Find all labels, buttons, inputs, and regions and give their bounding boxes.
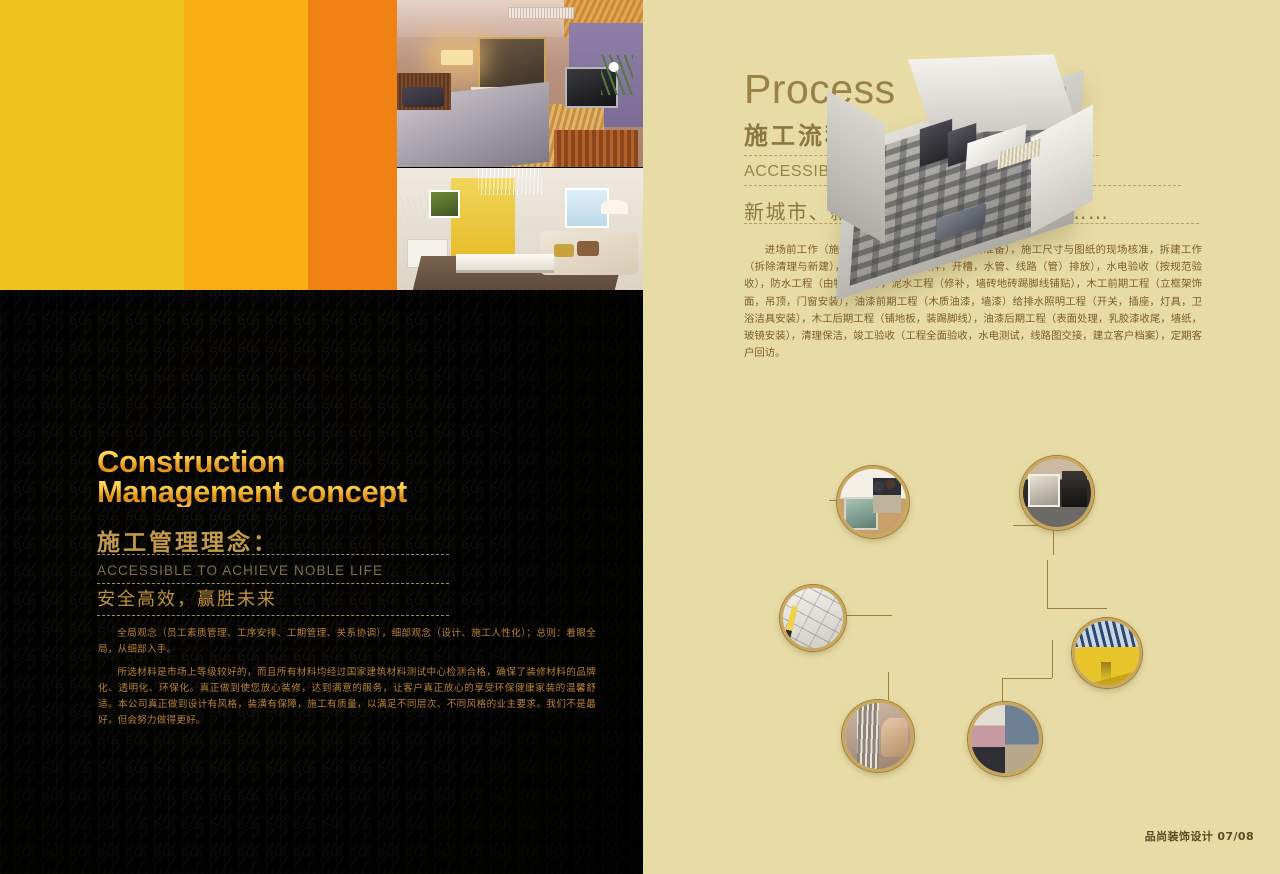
plant-icon [601, 55, 633, 95]
bedroom-photo-art [397, 0, 643, 167]
dashed-divider [97, 583, 449, 584]
3d-floor-plan-diagram [815, 35, 1115, 365]
left-subtitle-en: ACCESSIBLE TO ACHIEVE NOBLE LIFE [97, 563, 567, 578]
left-title-block: Construction Management concept 施工管理理念： … [97, 447, 567, 611]
brochure-spread: Construction Management concept 施工管理理念： … [0, 0, 1280, 874]
floor-plan-wall-left [827, 90, 885, 243]
footer-credit: 品尚装饰设计 07/08 [1145, 828, 1254, 844]
floor-lamp-icon [441, 50, 473, 65]
floor-plan-wall-back [908, 54, 1078, 133]
right-page: Process 施工流程： ACCESSIBLE TO ACHIEVE NOBL… [643, 0, 1280, 874]
left-title-line-1: Construction [97, 447, 567, 477]
bedroom-photo [397, 0, 643, 167]
yellow-interior-photo [1075, 621, 1139, 685]
leader-line [888, 672, 889, 700]
callout-workers-plastering[interactable] [968, 702, 1042, 776]
air-conditioner-icon [508, 7, 574, 19]
living-room-photo-art [397, 168, 643, 290]
dashed-divider [97, 554, 449, 555]
left-paragraph: 所选材料是市场上等级较好的，而且所有材料均经过国家建筑材料测试中心检测合格，确保… [98, 665, 596, 729]
left-page: Construction Management concept 施工管理理念： … [0, 0, 643, 874]
client-meeting-photo [840, 469, 906, 535]
color-bar-amber [184, 0, 308, 290]
callout-finished-interior[interactable] [1020, 456, 1094, 530]
leader-line [1047, 560, 1048, 608]
left-body-text: 全局观念（员工素质管理、工序安排、工期管理、关系协调），细部观念（设计、施工人性… [98, 626, 596, 736]
electrical-wiring-photo [845, 703, 911, 769]
leader-line [1052, 640, 1053, 678]
leader-line [1002, 678, 1003, 702]
callout-blueprint-drawing[interactable] [780, 585, 846, 651]
workers-plastering-photo [971, 705, 1039, 773]
dashed-divider [97, 615, 449, 616]
left-heading-cn: 施工管理理念： [97, 523, 567, 557]
left-title-line-2: Management concept [97, 477, 567, 507]
photo-stack [397, 0, 643, 290]
blueprint-drawing-photo [783, 588, 843, 648]
callout-yellow-interior[interactable] [1072, 618, 1142, 688]
leader-line [1002, 678, 1052, 679]
leader-line [1047, 608, 1107, 609]
leader-line [840, 615, 892, 616]
chandelier-icon [478, 168, 542, 195]
color-bar-orange [308, 0, 397, 290]
callout-client-meeting[interactable] [837, 466, 909, 538]
color-bar-yellow [0, 0, 184, 290]
living-room-photo [397, 168, 643, 290]
finished-interior-photo [1023, 459, 1091, 527]
left-paragraph: 全局观念（员工素质管理、工序安排、工期管理、关系协调），细部观念（设计、施工人性… [98, 626, 596, 658]
callout-electrical-wiring[interactable] [842, 700, 914, 772]
left-subtitle-cn: 安全高效，赢胜未来 [97, 585, 567, 611]
table-lamp-icon [601, 200, 628, 215]
